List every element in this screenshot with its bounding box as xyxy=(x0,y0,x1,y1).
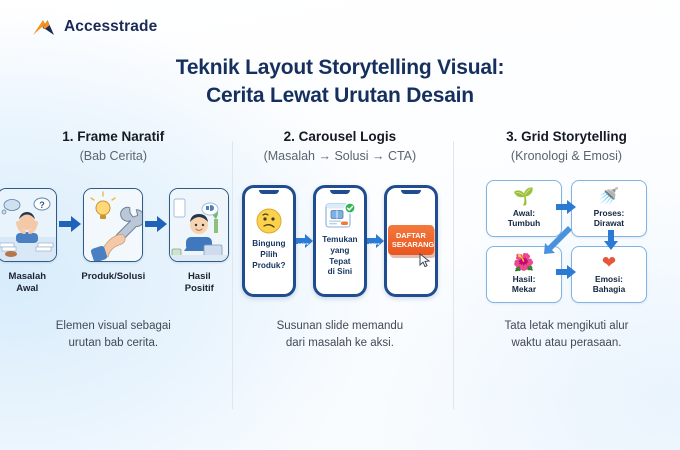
grid-cell-hasil-line1: Hasil: xyxy=(513,274,536,284)
frame-unit-1: ? xyxy=(0,188,58,295)
page-title: Teknik Layout Storytelling Visual: Cerit… xyxy=(0,54,680,110)
columns-container: 1. Frame Naratif (Bab Cerita) ? xyxy=(0,125,680,405)
column-3-title: 3. Grid Storytelling xyxy=(506,129,627,146)
cursor-icon xyxy=(419,253,431,268)
grid-cell-hasil: 🌺 Hasil: Mekar xyxy=(486,246,562,303)
grid-cell-proses-label: Proses: Dirawat xyxy=(594,208,625,229)
column-frame-naratif: 1. Frame Naratif (Bab Cerita) ? xyxy=(0,125,227,405)
infographic-page: Accesstrade Teknik Layout Storytelling V… xyxy=(0,0,680,450)
column-1-subtitle: (Bab Cerita) xyxy=(80,148,147,164)
frame-unit-2: Produk/Solusi xyxy=(82,188,144,283)
phone-2-line2: yang Tepat xyxy=(329,246,350,266)
column-1-caption: Elemen visual sebagai urutan bab cerita. xyxy=(56,318,171,351)
grid-cell-hasil-label: Hasil: Mekar xyxy=(512,274,536,295)
blossom-flower-icon: 🌺 xyxy=(513,254,534,271)
phone-notch-1 xyxy=(259,190,279,194)
frame-3-label-line2: Positif xyxy=(185,283,214,294)
phone-1-line2: Pilih xyxy=(260,250,277,259)
column-2-caption-line2: dari masalah ke aksi. xyxy=(286,337,394,349)
frame-3-label: Hasil Positif xyxy=(185,271,214,295)
column-1-caption-line2: urutan bab cerita. xyxy=(69,337,159,349)
confused-face-icon xyxy=(256,208,282,234)
frame-1-label-line2: Awal xyxy=(16,283,38,294)
product-card-check-icon xyxy=(325,202,355,230)
arrow-right-icon-2 xyxy=(144,188,168,260)
stressed-person-icon: ? xyxy=(0,188,57,262)
swipe-label-1: swipe xyxy=(298,242,309,246)
happy-person-laptop-icon xyxy=(169,188,229,262)
column-1-caption-line1: Elemen visual sebagai xyxy=(56,320,171,332)
seedling-icon: 🌱 xyxy=(513,188,534,205)
grid-cell-emosi-label: Emosi: Bahagia xyxy=(593,274,626,295)
arrow-down-icon-grid-right xyxy=(604,230,618,250)
swipe-label-2: swipe xyxy=(369,242,380,246)
brand-name: Accesstrade xyxy=(64,18,157,36)
phone-1-line3: Produk? xyxy=(252,261,285,270)
phone-1-line1: Bingung xyxy=(252,239,285,248)
grid-cell-awal-line1: Awal: xyxy=(513,208,535,218)
grid-cell-awal-line2: Tumbuh xyxy=(508,218,540,228)
cta-line2: SEKARANG xyxy=(392,240,434,249)
grid-cell-proses-line1: Proses: xyxy=(594,208,625,218)
arrow-right-icon-grid-bottom xyxy=(556,265,576,279)
hand-wrench-lightbulb-icon xyxy=(83,188,143,262)
column-3-subtitle: (Kronologi & Emosi) xyxy=(511,148,622,164)
page-title-line1: Teknik Layout Storytelling Visual: xyxy=(176,56,505,79)
column-3-caption-line1: Tata letak mengikuti alur xyxy=(504,320,628,332)
frame-unit-3: Hasil Positif xyxy=(168,188,230,295)
phone-notch-2 xyxy=(330,190,350,194)
column-2-title: 2. Carousel Logis xyxy=(284,129,397,146)
frame-2-label: Produk/Solusi xyxy=(81,271,145,283)
watering-can-icon: 🚿 xyxy=(598,188,619,205)
phone-notch-3 xyxy=(401,190,421,194)
swipe-arrow-2: swipe xyxy=(367,234,384,248)
arrow-right-icon-grid-top xyxy=(556,200,576,214)
column-3-caption-line2: waktu atau perasaan. xyxy=(511,337,621,349)
phone-slide-3[interactable]: DAFTAR SEKARANG xyxy=(384,185,438,297)
phone-2-line3: di Sini xyxy=(328,267,353,276)
column-2-illustration: Bingung Pilih Produk? swipe xyxy=(242,178,438,304)
column-2-caption-line1: Susunan slide memandu xyxy=(277,320,404,332)
brand-logo: Accesstrade xyxy=(30,16,157,38)
page-title-line2: Cerita Lewat Urutan Desain xyxy=(0,82,680,110)
orange-arrow-logo-icon xyxy=(30,16,56,38)
phone-slide-2[interactable]: Temukan yang Tepat di Sini xyxy=(313,185,367,297)
grid-cell-emosi: ❤ Emosi: Bahagia xyxy=(571,246,647,303)
frame-3-label-line1: Hasil xyxy=(188,271,211,282)
daftar-sekarang-button[interactable]: DAFTAR SEKARANG xyxy=(388,225,434,255)
column-carousel-logis: 2. Carousel Logis (Masalah → Solusi → CT… xyxy=(227,125,454,405)
frame-1-label-line1: Masalah xyxy=(9,271,47,282)
phone-2-line1: Temukan xyxy=(322,235,357,244)
grid-cell-emosi-line2: Bahagia xyxy=(593,284,626,294)
heart-icon: ❤ xyxy=(602,254,616,271)
arrow-right-icon-1 xyxy=(58,188,82,260)
phone-1-text: Bingung Pilih Produk? xyxy=(252,239,285,271)
column-3-caption: Tata letak mengikuti alur waktu atau per… xyxy=(504,318,628,351)
column-1-illustration: ? xyxy=(0,178,230,304)
phone-slide-1[interactable]: Bingung Pilih Produk? xyxy=(242,185,296,297)
column-3-illustration: 🌱 Awal: Tumbuh 🚿 Proses: Dirawat xyxy=(486,178,647,304)
column-1-title: 1. Frame Naratif xyxy=(62,129,164,146)
svg-text:?: ? xyxy=(40,200,46,210)
grid-cell-awal-label: Awal: Tumbuh xyxy=(508,208,540,229)
grid-cell-emosi-line1: Emosi: xyxy=(595,274,623,284)
column-2-subtitle: (Masalah → Solusi → CTA) xyxy=(264,148,417,164)
swipe-arrow-1: swipe xyxy=(296,234,313,248)
phone-2-text: Temukan yang Tepat di Sini xyxy=(319,235,361,278)
column-grid-storytelling: 3. Grid Storytelling (Kronologi & Emosi)… xyxy=(453,125,680,405)
grid-cell-hasil-line2: Mekar xyxy=(512,284,536,294)
arrow-diagonal-icon-grid xyxy=(542,224,572,254)
column-2-caption: Susunan slide memandu dari masalah ke ak… xyxy=(277,318,404,351)
grid-cell-proses: 🚿 Proses: Dirawat xyxy=(571,180,647,237)
grid-cell-proses-line2: Dirawat xyxy=(594,218,624,228)
cta-line1: DAFTAR xyxy=(396,231,426,240)
frame-1-label: Masalah Awal xyxy=(9,271,47,295)
